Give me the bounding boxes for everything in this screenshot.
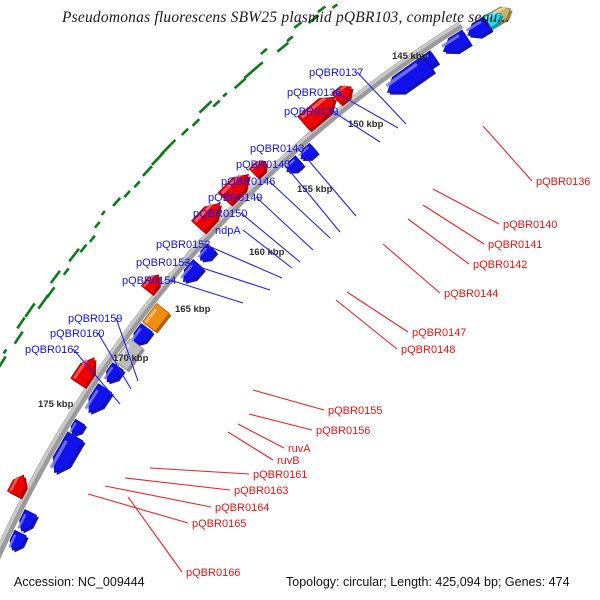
gene-label[interactable]: pQBR0150 [193,208,247,220]
gene-label[interactable]: pQBR0154 [122,275,176,287]
gene-label[interactable]: pQBR0138 [287,87,341,99]
gene-label[interactable]: pQBR0155 [328,405,382,417]
axis-tick-label: 165 kbp [175,304,211,315]
gene-label[interactable]: pQBR0161 [253,469,307,481]
axis-tick-label: 170 kbp [113,353,149,364]
gene-label[interactable]: pQBR0153 [136,257,190,269]
gene-label[interactable]: pQBR0164 [215,502,269,514]
gene-label[interactable]: pQBR0147 [412,327,466,339]
gene-label[interactable]: ruvB [277,455,300,467]
gene-label[interactable]: pQBR0159 [68,313,122,325]
gene-label[interactable]: pQBR0146 [221,176,275,188]
gene-label[interactable]: pQBR0137 [309,67,363,79]
gene-label[interactable]: ndpA [215,225,241,237]
axis-tick-label: 145 kbp [392,51,428,62]
gene-label[interactable]: pQBR0165 [192,518,246,530]
gene-label[interactable]: pQBR0144 [444,288,498,300]
gene-label[interactable]: pQBR0166 [186,567,240,579]
gene-label[interactable]: pQBR0148 [401,344,455,356]
gene-label[interactable]: pQBR0140 [503,219,557,231]
accession-status: Accession: NC_009444 [14,575,145,589]
genome-viewer-canvas[interactable]: 145 kbp150 kbp155 kbp160 kbp165 kbp170 k… [0,0,600,600]
gene-label[interactable]: pQBR0145 [236,159,290,171]
circular-genome-map[interactable]: 145 kbp150 kbp155 kbp160 kbp165 kbp170 k… [0,0,600,600]
page-title: Pseudomonas fluorescens SBW25 plasmid pQ… [61,9,510,26]
axis-tick-label: 175 kbp [38,399,74,410]
gene-label[interactable]: pQBR0152 [156,239,210,251]
gene-label[interactable]: pQBR0160 [50,328,104,340]
gene-label[interactable]: pQBR0136 [536,176,590,188]
gene-label[interactable]: pQBR0156 [316,425,370,437]
gene-label[interactable]: pQBR0141 [488,239,542,251]
gene-label[interactable]: ruvA [288,443,311,455]
gene-label[interactable]: pQBR0143 [250,143,304,155]
gene-label[interactable]: pQBR0142 [473,259,527,271]
gene-label[interactable]: pQBR0139 [284,106,338,118]
gene-label[interactable]: pQBR0162 [25,344,79,356]
gene-label[interactable]: pQBR0149 [208,192,262,204]
genome-stats-status: Topology: circular; Length: 425,094 bp; … [286,575,570,589]
gene-label[interactable]: pQBR0163 [234,485,288,497]
